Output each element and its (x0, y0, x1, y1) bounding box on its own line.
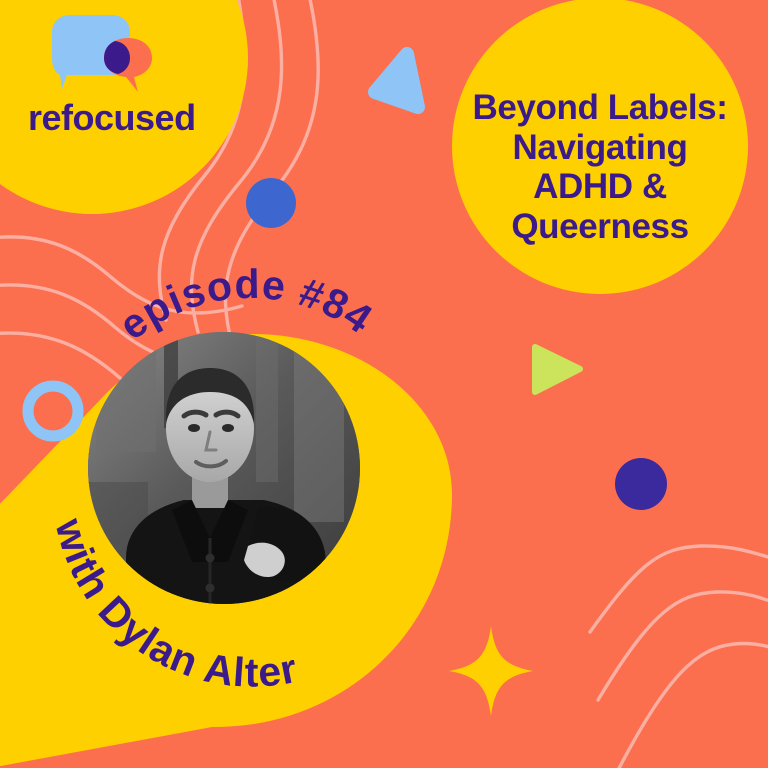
title-line-4: Queerness (455, 207, 745, 247)
title-line-3: ADHD & (455, 167, 745, 207)
title-line-2: Navigating (455, 128, 745, 168)
podcast-cover-art: refocused Beyond Labels: Navigating ADHD… (0, 0, 768, 768)
speech-bubbles-icon (36, 14, 176, 100)
royal-blue-dot (246, 178, 296, 228)
episode-title: Beyond Labels: Navigating ADHD & Queerne… (455, 88, 745, 246)
brand-logo[interactable]: refocused (28, 14, 208, 134)
title-line-1: Beyond Labels: (455, 88, 745, 128)
portrait-illustration (88, 332, 360, 604)
brand-wordmark: refocused (28, 100, 196, 136)
indigo-dot (615, 458, 667, 510)
guest-photo (88, 332, 360, 604)
